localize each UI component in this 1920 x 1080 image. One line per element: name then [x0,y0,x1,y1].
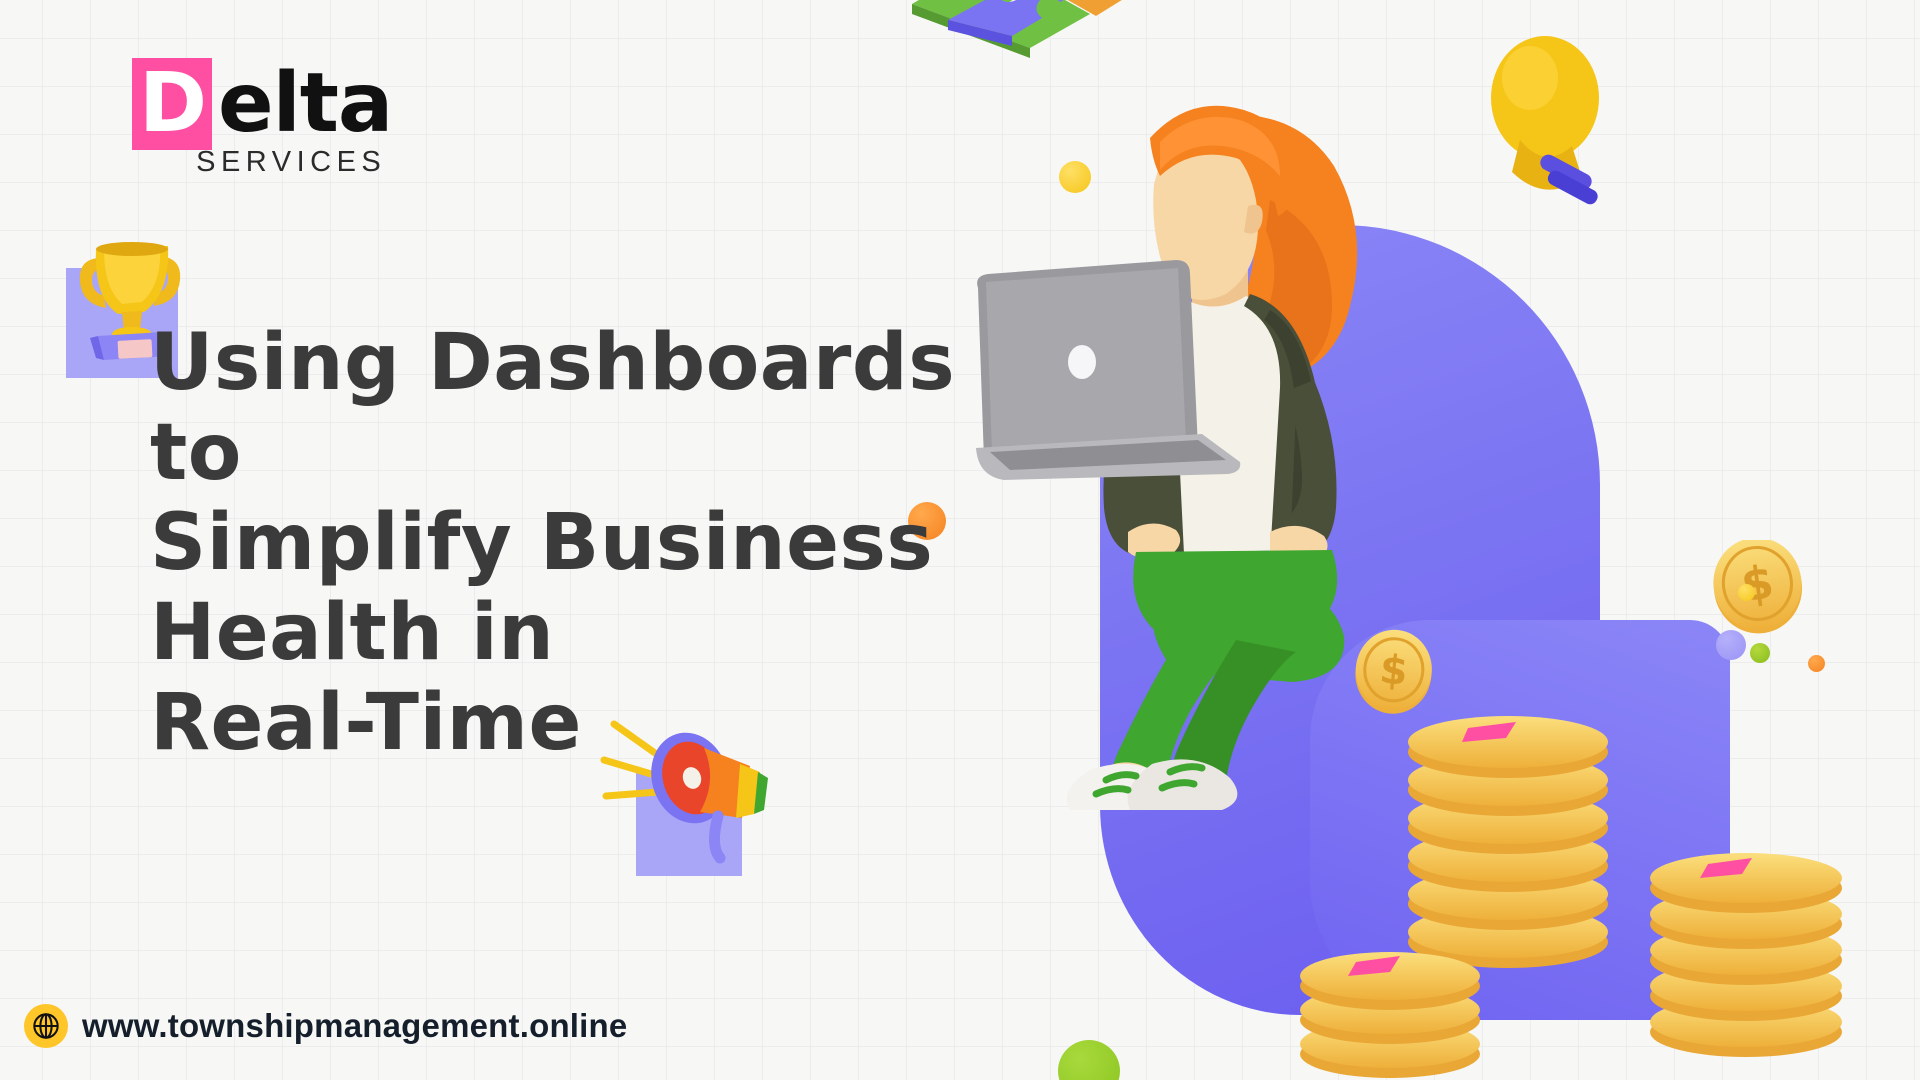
orange-dot-small [1808,655,1825,672]
green-dot-small [1750,643,1770,663]
puzzle-pieces-icon [900,0,1140,92]
lightbulb-icon [1490,28,1600,208]
brand-logo[interactable]: D elta SERVICES [132,58,392,179]
logo-letter-box: D [132,58,212,150]
yellow-dot-small [1738,584,1755,601]
globe-icon [24,1004,68,1048]
headline-line-3: Simplify Business [150,498,970,588]
logo-wordmark: D elta [132,58,392,150]
headline-line-5: Real-Time [150,678,970,768]
headline-line-4: Health in [150,588,970,678]
headline-line-1: Using Dashboards [150,318,970,408]
svg-text:$: $ [1377,646,1409,695]
headline-line-2: to [150,408,970,498]
logo-letter: D [139,63,205,145]
page-title: Using Dashboards to Simplify Business He… [150,318,970,768]
website-link[interactable]: www.townshipmanagement.online [24,1004,627,1048]
coin-stacks-icon: $ $ [1300,540,1920,1080]
purple-dot [1716,630,1746,660]
green-dot [1058,1040,1120,1080]
website-url-text: www.townshipmanagement.online [82,1007,627,1045]
logo-word: elta [218,58,392,150]
marketing-banner: $ $ [0,0,1920,1080]
